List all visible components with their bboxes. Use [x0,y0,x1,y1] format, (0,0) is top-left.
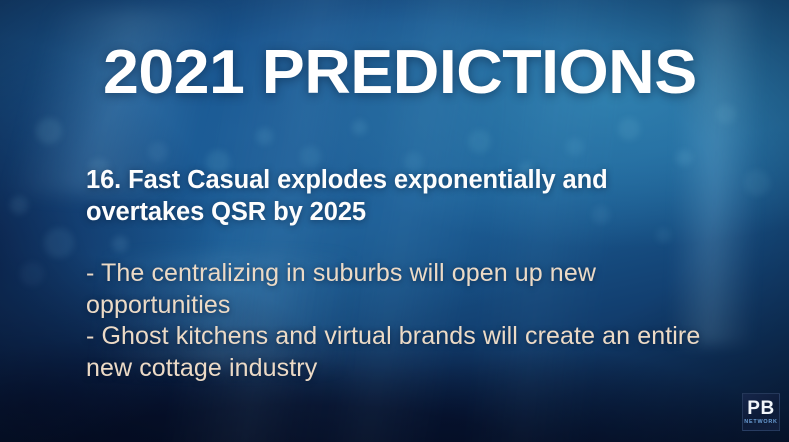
slide-content: 2021 PREDICTIONS 16. Fast Casual explode… [0,0,789,442]
pb-network-logo: PB NETWORK [742,393,780,431]
logo-wordmark: NETWORK [744,419,777,426]
presentation-slide: 2021 PREDICTIONS 16. Fast Casual explode… [0,0,789,442]
prediction-bullet-list: - The centralizing in suburbs will open … [86,258,706,384]
page-title: 2021 PREDICTIONS [103,38,697,108]
list-item: - Ghost kitchens and virtual brands will… [86,321,706,384]
logo-monogram: PB [747,399,774,418]
prediction-headline: 16. Fast Casual explodes exponentially a… [86,164,696,228]
list-item: - The centralizing in suburbs will open … [86,258,706,321]
